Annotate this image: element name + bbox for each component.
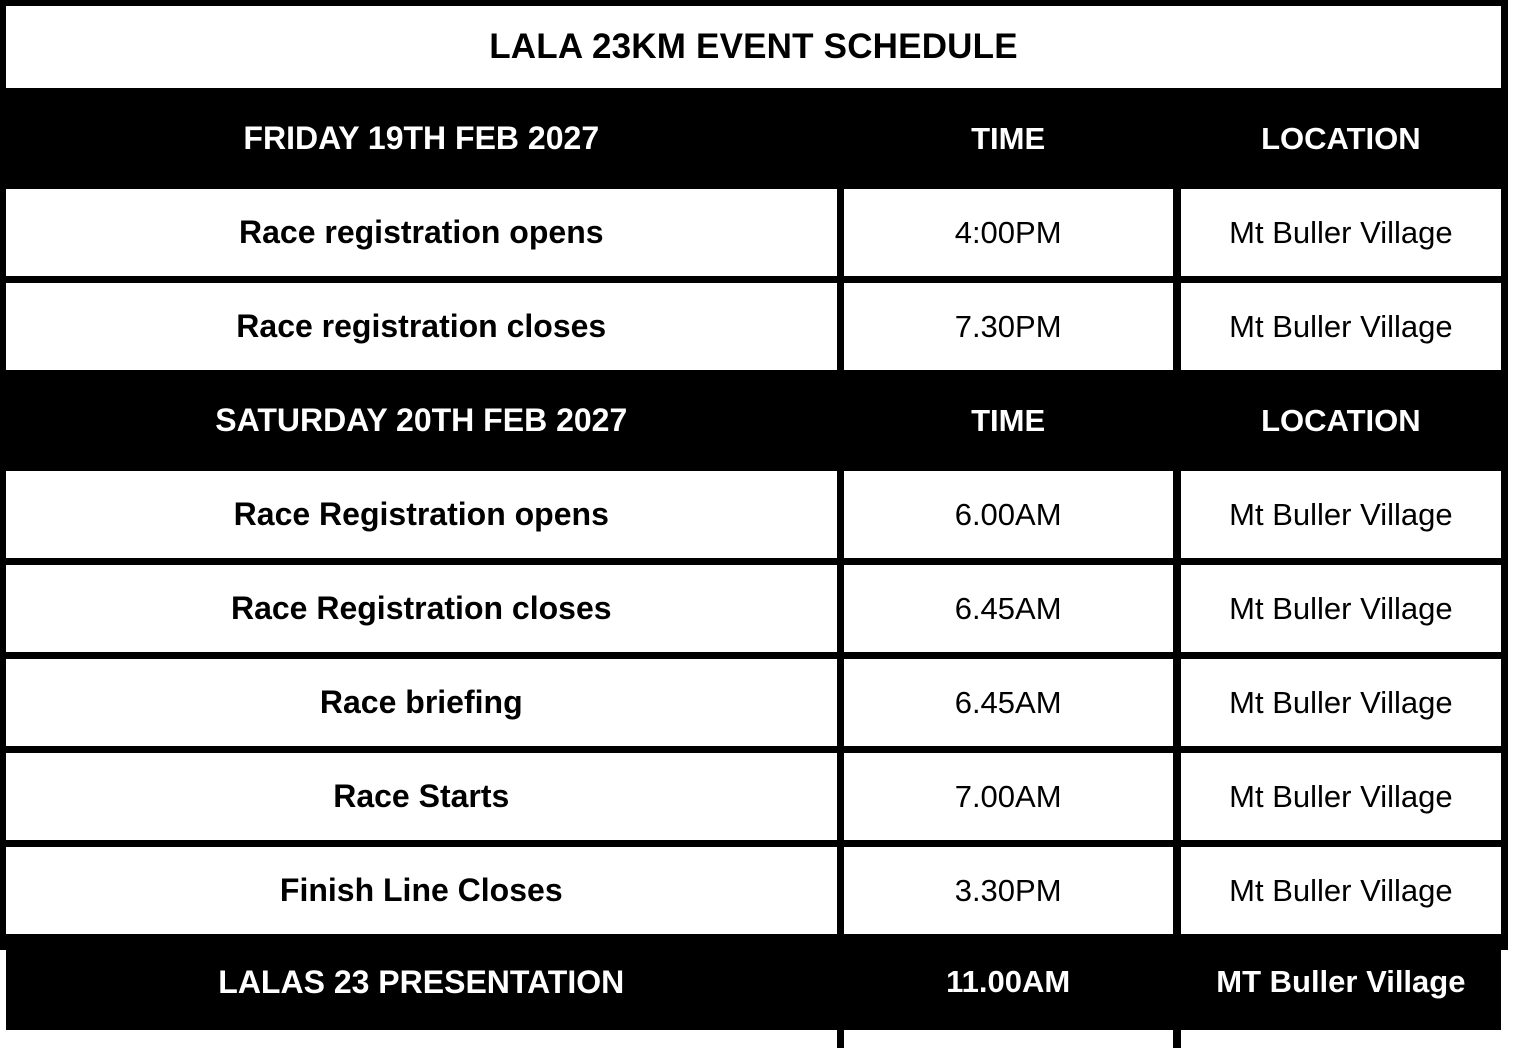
section-header-day-label: SATURDAY 20TH FEB 2027	[215, 402, 627, 439]
row-separator	[6, 464, 1501, 471]
table-row: Race Registration closes 6.45AM Mt Bulle…	[6, 565, 1501, 652]
table-row: Race registration closes 7.30PM Mt Bulle…	[6, 283, 1501, 370]
column-header-location: LOCATION	[1261, 403, 1421, 439]
event-name-cell: Race Starts	[333, 778, 509, 815]
section-header-friday: FRIDAY 19TH FEB 2027 TIME LOCATION	[6, 95, 1501, 182]
event-location-cell: Mt Buller Village	[1229, 873, 1452, 909]
event-time-cell: 4:00PM	[955, 215, 1062, 251]
section-header-saturday: SATURDAY 20TH FEB 2027 TIME LOCATION	[6, 377, 1501, 464]
presentation-time-cell: 11.00AM	[946, 964, 1070, 1000]
event-name-cell: Race registration opens	[239, 214, 604, 251]
event-location-cell: Mt Buller Village	[1229, 779, 1452, 815]
row-separator	[6, 370, 1501, 377]
event-time-cell: 3.30PM	[955, 873, 1062, 909]
event-time-cell: 6.45AM	[955, 591, 1062, 627]
row-separator	[6, 840, 1501, 847]
row-separator	[6, 182, 1501, 189]
event-name-cell: Race Registration opens	[234, 496, 609, 533]
page-title: LALA 23KM EVENT SCHEDULE	[6, 6, 1501, 88]
column-header-time: TIME	[971, 403, 1045, 439]
event-schedule-table: LALA 23KM EVENT SCHEDULE FRIDAY 19TH FEB…	[0, 0, 1508, 950]
event-time-cell: 6.45AM	[955, 685, 1062, 721]
table-row: Finish Line Closes 3.30PM Mt Buller Vill…	[6, 847, 1501, 934]
row-separator	[6, 1023, 1501, 1030]
event-time-cell: 6.00AM	[955, 497, 1062, 533]
event-location-cell: Mt Buller Village	[1229, 309, 1452, 345]
table-row: Race Starts 7.00AM Mt Buller Village	[6, 753, 1501, 840]
table-row: Race briefing 6.45AM Mt Buller Village	[6, 659, 1501, 746]
event-location-cell: Mt Buller Village	[1229, 497, 1452, 533]
table-row-partial	[6, 1030, 1501, 1048]
column-header-location: LOCATION	[1261, 121, 1421, 157]
row-separator	[6, 88, 1501, 95]
event-time-cell: 7.30PM	[955, 309, 1062, 345]
row-separator	[6, 746, 1501, 753]
table-row: Race registration opens 4:00PM Mt Buller…	[6, 189, 1501, 276]
event-location-cell: Mt Buller Village	[1229, 685, 1452, 721]
row-separator	[6, 558, 1501, 565]
event-location-cell: Mt Buller Village	[1229, 215, 1452, 251]
event-name-cell: Finish Line Closes	[280, 872, 563, 909]
event-location-cell: Mt Buller Village	[1229, 591, 1452, 627]
row-separator	[6, 276, 1501, 283]
presentation-row: LALAS 23 PRESENTATION 11.00AM MT Buller …	[6, 941, 1501, 1023]
event-name-cell: Race registration closes	[236, 308, 606, 345]
table-title-row: LALA 23KM EVENT SCHEDULE	[6, 6, 1501, 88]
section-header-day-label: FRIDAY 19TH FEB 2027	[243, 120, 599, 157]
event-name-cell: Race Registration closes	[231, 590, 612, 627]
presentation-event-cell: LALAS 23 PRESENTATION	[218, 964, 624, 1001]
table-row: Race Registration opens 6.00AM Mt Buller…	[6, 471, 1501, 558]
presentation-location-cell: MT Buller Village	[1216, 964, 1465, 1000]
event-name-cell: Race briefing	[320, 684, 523, 721]
row-separator	[6, 934, 1501, 941]
column-header-time: TIME	[971, 121, 1045, 157]
row-separator	[6, 652, 1501, 659]
event-time-cell: 7.00AM	[955, 779, 1062, 815]
